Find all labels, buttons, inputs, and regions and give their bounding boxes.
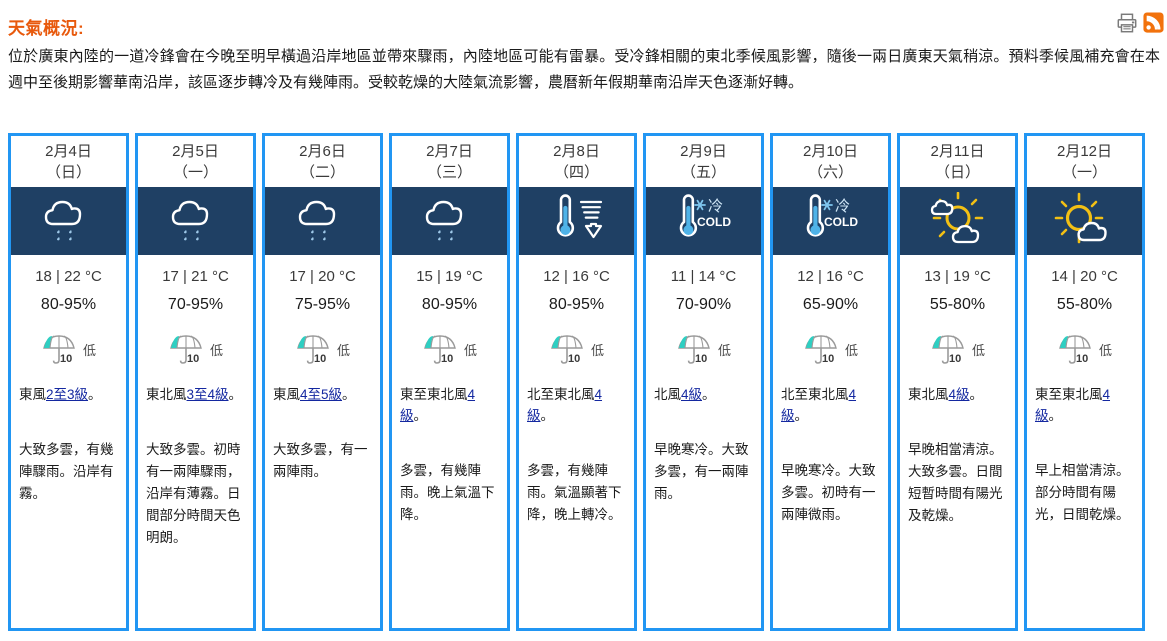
forecast-date-day: 2月10日 [803,143,858,160]
forecast-date: 2月5日（一） [138,136,253,187]
wind-suffix: 。 [1049,408,1063,423]
wind-direction: 北至東北風 [781,387,849,402]
forecast-date: 2月10日（六） [773,136,888,187]
uv-index-row: 10低 [646,314,761,366]
forecast-date-day: 2月12日 [1057,143,1112,160]
wind-suffix: 。 [795,408,809,423]
forecast-date-day: 2月5日 [172,143,219,160]
forecast-description: 大致多雲，有一兩陣雨。 [265,405,380,483]
forecast-description: 早晚寒冷。大致多雲。初時有一兩陣微雨。 [773,426,888,526]
forecast-date-weekday: （三） [394,162,505,183]
forecast-date-weekday: （一） [140,162,251,183]
svg-text:10: 10 [1076,353,1088,365]
umbrella-10-icon: 10 [930,332,966,366]
uv-index-row: 10低 [392,314,507,366]
wind-info: 北至東北風4級。 [519,366,634,426]
umbrella-10-icon: 10 [1057,332,1093,366]
thermometer-cold-icon: 冷COLD [670,192,738,250]
wind-direction: 東北風 [146,387,187,402]
svg-text:10: 10 [949,353,961,365]
humidity-range: 70-90% [646,285,761,314]
weather-icon-band [1027,187,1142,255]
forecast-date: 2月12日（一） [1027,136,1142,187]
header-icon-tray [1116,12,1164,34]
uv-index-row: 10低 [1027,314,1142,366]
svg-text:10: 10 [314,353,326,365]
uv-level-label: 低 [718,340,731,359]
forecast-day-card: 2月4日（日）18 | 22 °C80-95%10低東風2至3級。大致多雲，有幾… [8,133,129,631]
sun-clouds-icon [924,192,992,250]
wind-info: 北風4級。 [646,366,761,405]
temperature-range: 18 | 22 °C [11,255,126,285]
umbrella-10-icon: 10 [549,332,585,366]
forecast-date-weekday: （日） [902,162,1013,183]
forecast-description: 多雲，有幾陣雨。氣溫顯著下降，晚上轉冷。 [519,426,634,526]
forecast-date-day: 2月4日 [45,143,92,160]
wind-info: 東至東北風4級。 [392,366,507,426]
uv-level-label: 低 [845,340,858,359]
forecast-day-card: 2月10日（六）冷COLD12 | 16 °C65-90%10低北至東北風4級。… [770,133,891,631]
wind-suffix: 。 [414,408,428,423]
forecast-description: 大致多雲。初時有一兩陣驟雨，沿岸有薄霧。日間部分時間天色明朗。 [138,405,253,549]
uv-level-label: 低 [337,340,350,359]
forecast-day-card: 2月9日（五）冷COLD11 | 14 °C70-90%10低北風4級。早晚寒冷… [643,133,764,631]
wind-force-link[interactable]: 4級 [681,387,702,402]
umbrella-10-icon: 10 [168,332,204,366]
forecast-date-weekday: （四） [521,162,632,183]
umbrella-10-icon: 10 [803,332,839,366]
umbrella-10-icon: 10 [41,332,77,366]
forecast-day-card: 2月6日（二）17 | 20 °C75-95%10低東風4至5級。大致多雲，有一… [262,133,383,631]
weather-icon-band [900,187,1015,255]
uv-index-row: 10低 [900,314,1015,366]
weather-icon-band: 冷COLD [646,187,761,255]
forecast-date-day: 2月9日 [680,143,727,160]
wind-info: 東北風3至4級。 [138,366,253,405]
weather-icon-band [392,187,507,255]
forecast-date-weekday: （五） [648,162,759,183]
forecast-date-day: 2月6日 [299,143,346,160]
svg-text:10: 10 [695,353,707,365]
forecast-date-day: 2月7日 [426,143,473,160]
humidity-range: 70-95% [138,285,253,314]
cloud-rain-icon [35,192,103,250]
uv-level-label: 低 [1099,340,1112,359]
wind-direction: 東至東北風 [1035,387,1103,402]
cloud-rain-icon [162,192,230,250]
wind-force-link[interactable]: 3至4級 [187,387,229,402]
forecast-date: 2月7日（三） [392,136,507,187]
forecast-day-card: 2月12日（一）14 | 20 °C55-80%10低東至東北風4級。早上相當清… [1024,133,1145,631]
wind-direction: 東北風 [908,387,949,402]
forecast-day-card: 2月7日（三）15 | 19 °C80-95%10低東至東北風4級。多雲，有幾陣… [389,133,510,631]
forecast-day-card: 2月11日（日）13 | 19 °C55-80%10低東北風4級。早晚相當清涼。… [897,133,1018,631]
uv-index-row: 10低 [519,314,634,366]
wind-force-link[interactable]: 4至5級 [300,387,342,402]
wind-info: 東北風4級。 [900,366,1015,405]
wind-direction: 北風 [654,387,681,402]
forecast-description: 大致多雲，有幾陣驟雨。沿岸有霧。 [11,405,126,505]
uv-level-label: 低 [210,340,223,359]
umbrella-10-icon: 10 [422,332,458,366]
weather-icon-band [519,187,634,255]
uv-level-label: 低 [591,340,604,359]
forecast-day-card: 2月8日（四）12 | 16 °C80-95%10低北至東北風4級。多雲，有幾陣… [516,133,637,631]
cold-icon-label-cn: 冷 [835,198,850,215]
weather-icon-band: 冷COLD [773,187,888,255]
temperature-range: 15 | 19 °C [392,255,507,285]
temperature-range: 12 | 16 °C [519,255,634,285]
forecast-date: 2月8日（四） [519,136,634,187]
wind-force-link[interactable]: 4級 [949,387,970,402]
cold-icon-label-en: COLD [697,215,731,229]
sun-cloud-icon [1051,192,1119,250]
umbrella-10-icon: 10 [295,332,331,366]
uv-level-label: 低 [972,340,985,359]
wind-direction: 東風 [273,387,300,402]
wind-info: 東風2至3級。 [11,366,126,405]
wind-suffix: 。 [541,408,555,423]
weather-icon-band [265,187,380,255]
humidity-range: 80-95% [11,285,126,314]
forecast-date: 2月4日（日） [11,136,126,187]
forecast-date-day: 2月11日 [931,143,985,160]
wind-force-link[interactable]: 2至3級 [46,387,88,402]
rss-icon[interactable] [1143,12,1164,33]
wind-info: 東至東北風4級。 [1027,366,1142,426]
humidity-range: 80-95% [392,285,507,314]
wind-suffix: 。 [970,387,984,402]
printer-icon[interactable] [1116,12,1138,34]
forecast-description: 早上相當清涼。部分時間有陽光，日間乾燥。 [1027,426,1142,526]
svg-text:10: 10 [568,353,580,365]
wind-direction: 東風 [19,387,46,402]
weather-forecast-page: 天氣概況: 位於廣東內陸的一道冷鋒會在今晚至明早橫過沿岸地區並帶來驟雨，內陸地區… [0,0,1167,641]
forecast-date-weekday: （六） [775,162,886,183]
forecast-description: 早晚寒冷。大致多雲，有一兩陣雨。 [646,405,761,505]
forecast-description: 多雲，有幾陣雨。晚上氣溫下降。 [392,426,507,526]
page-title: 天氣概況: [8,14,84,39]
wind-suffix: 。 [229,387,243,402]
svg-text:10: 10 [60,353,72,365]
svg-text:10: 10 [822,353,834,365]
nine-day-forecast-strip: 2月4日（日）18 | 22 °C80-95%10低東風2至3級。大致多雲，有幾… [8,133,1161,631]
weather-icon-band [11,187,126,255]
wind-suffix: 。 [88,387,102,402]
temperature-range: 11 | 14 °C [646,255,761,285]
humidity-range: 55-80% [1027,285,1142,314]
forecast-date: 2月9日（五） [646,136,761,187]
cloud-rain-icon [416,192,484,250]
cold-icon-label-en: COLD [824,215,858,229]
forecast-date-weekday: （日） [13,162,124,183]
temperature-range: 13 | 19 °C [900,255,1015,285]
wind-direction: 東至東北風 [400,387,468,402]
temperature-range: 12 | 16 °C [773,255,888,285]
forecast-date-weekday: （一） [1029,162,1140,183]
uv-index-row: 10低 [138,314,253,366]
wind-info: 東風4至5級。 [265,366,380,405]
forecast-date-day: 2月8日 [553,143,600,160]
thermometer-cold-icon: 冷COLD [797,192,865,250]
forecast-description: 早晚相當清涼。大致多雲。日間短暫時間有陽光及乾燥。 [900,405,1015,527]
uv-level-label: 低 [83,340,96,359]
forecast-date-weekday: （二） [267,162,378,183]
humidity-range: 55-80% [900,285,1015,314]
uv-index-row: 10低 [265,314,380,366]
cloud-rain-icon [289,192,357,250]
svg-text:10: 10 [441,353,453,365]
uv-level-label: 低 [464,340,477,359]
uv-index-row: 10低 [773,314,888,366]
humidity-range: 65-90% [773,285,888,314]
wind-direction: 北至東北風 [527,387,595,402]
weather-summary-paragraph: 位於廣東內陸的一道冷鋒會在今晚至明早橫過沿岸地區並帶來驟雨，內陸地區可能有雷暴。… [8,44,1160,96]
forecast-date: 2月11日（日） [900,136,1015,187]
wind-suffix: 。 [342,387,356,402]
forecast-date: 2月6日（二） [265,136,380,187]
temperature-range: 17 | 21 °C [138,255,253,285]
wind-suffix: 。 [702,387,716,402]
humidity-range: 75-95% [265,285,380,314]
cold-icon-label-cn: 冷 [708,198,723,215]
weather-icon-band [138,187,253,255]
humidity-range: 80-95% [519,285,634,314]
svg-text:10: 10 [187,353,199,365]
thermometer-falling-icon [543,192,611,250]
uv-index-row: 10低 [11,314,126,366]
temperature-range: 17 | 20 °C [265,255,380,285]
umbrella-10-icon: 10 [676,332,712,366]
temperature-range: 14 | 20 °C [1027,255,1142,285]
wind-info: 北至東北風4級。 [773,366,888,426]
forecast-day-card: 2月5日（一）17 | 21 °C70-95%10低東北風3至4級。大致多雲。初… [135,133,256,631]
